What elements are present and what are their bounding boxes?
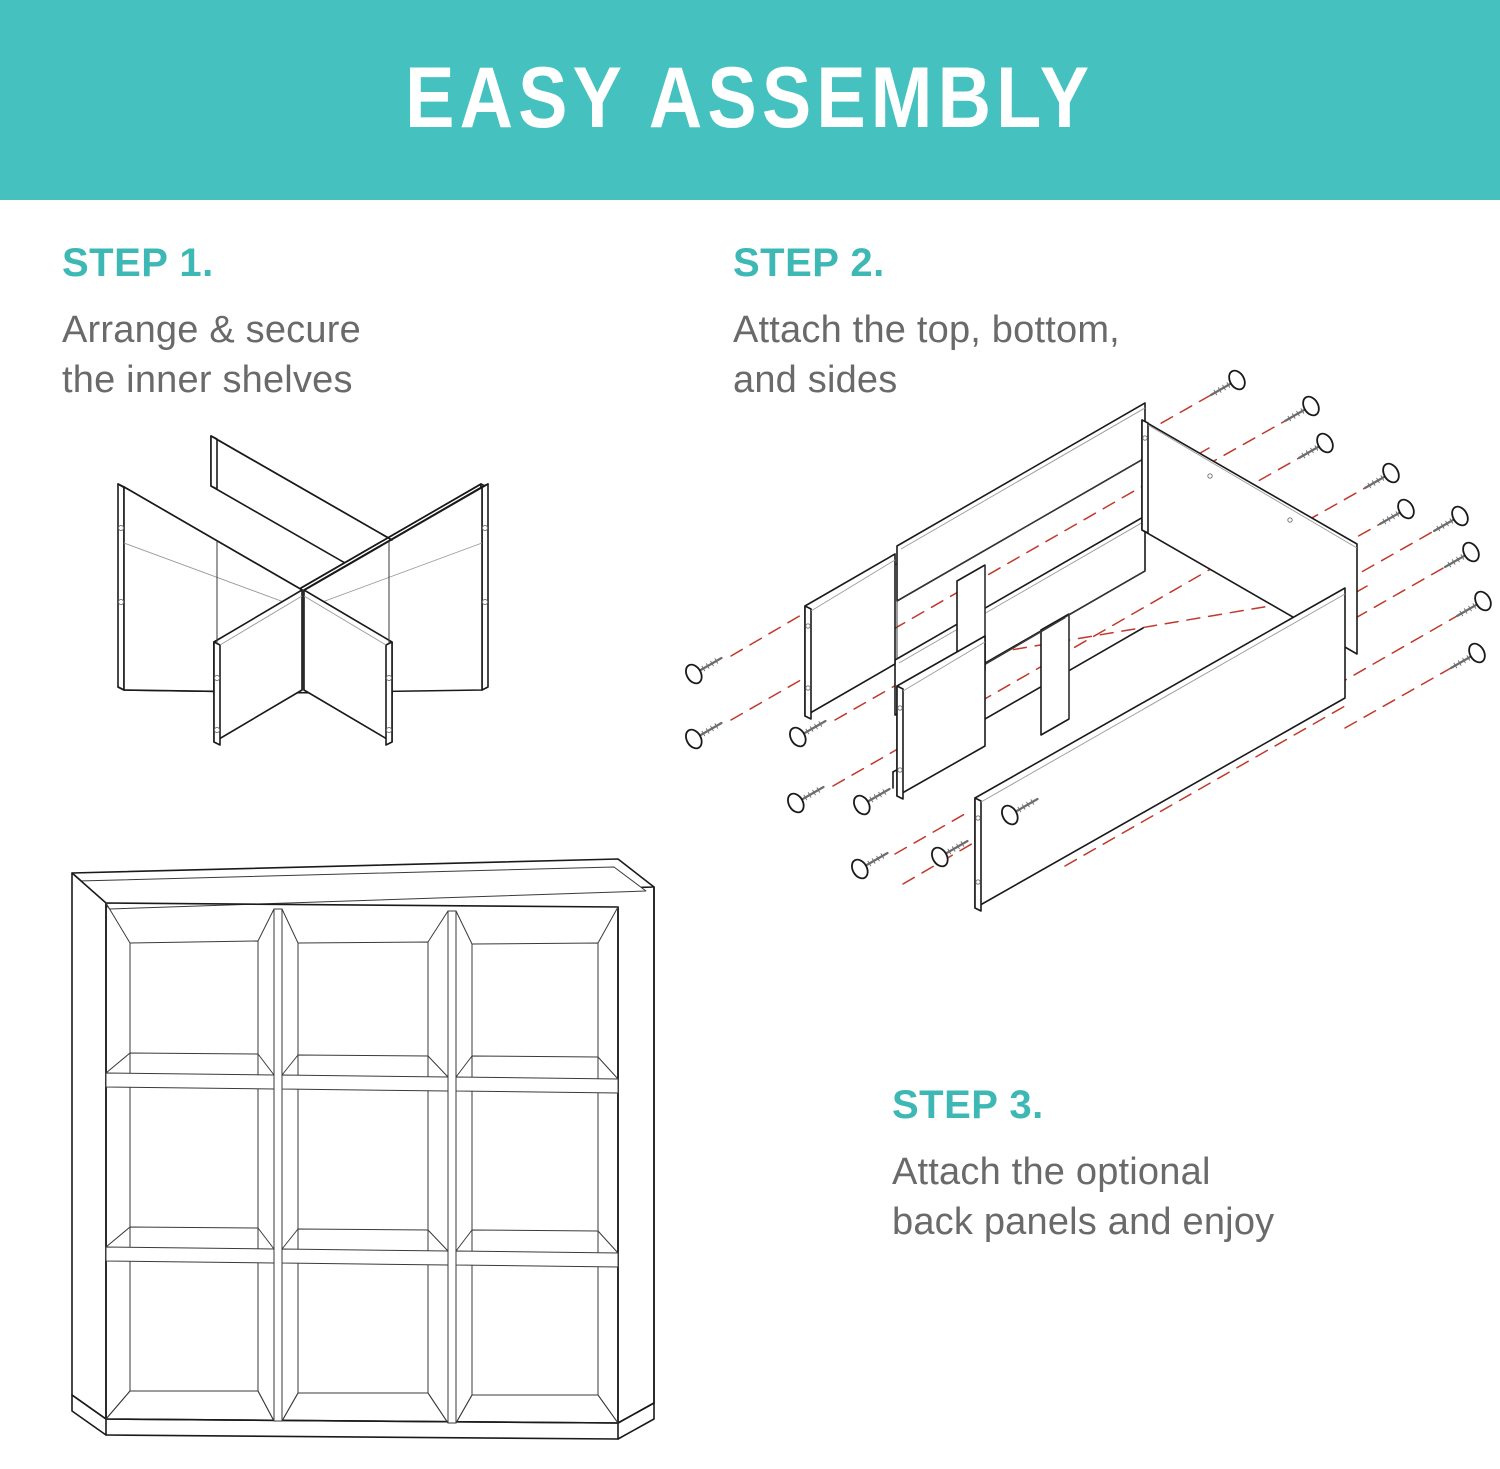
step-3-heading: STEP 3. <box>892 1085 1274 1125</box>
assembly-infographic: EASY ASSEMBLY STEP 1. Arrange & secure t… <box>0 0 1500 1469</box>
cube-organizer-carcass <box>72 859 654 1439</box>
step-3-text-block: STEP 3. Attach the optional back panels … <box>892 1085 1274 1247</box>
step-1-text-block: STEP 1. Arrange & secure the inner shelv… <box>62 243 361 405</box>
inner-shelves-cross-diagram <box>96 412 516 772</box>
step-3-body: Attach the optional back panels and enjo… <box>892 1147 1274 1247</box>
step-2-heading: STEP 2. <box>733 243 1120 283</box>
page-title: EASY ASSEMBLY <box>405 55 1094 141</box>
step-1-heading: STEP 1. <box>62 243 361 283</box>
exploded-panels-diagram <box>645 368 1500 908</box>
finished-cube-organizer-diagram <box>58 843 708 1443</box>
shelf-row-1 <box>106 1053 618 1093</box>
shelf-row-2 <box>106 1227 618 1267</box>
cube-grid-interior <box>106 903 618 1423</box>
step-1-body: Arrange & secure the inner shelves <box>62 305 361 405</box>
header-banner: EASY ASSEMBLY <box>0 0 1500 200</box>
